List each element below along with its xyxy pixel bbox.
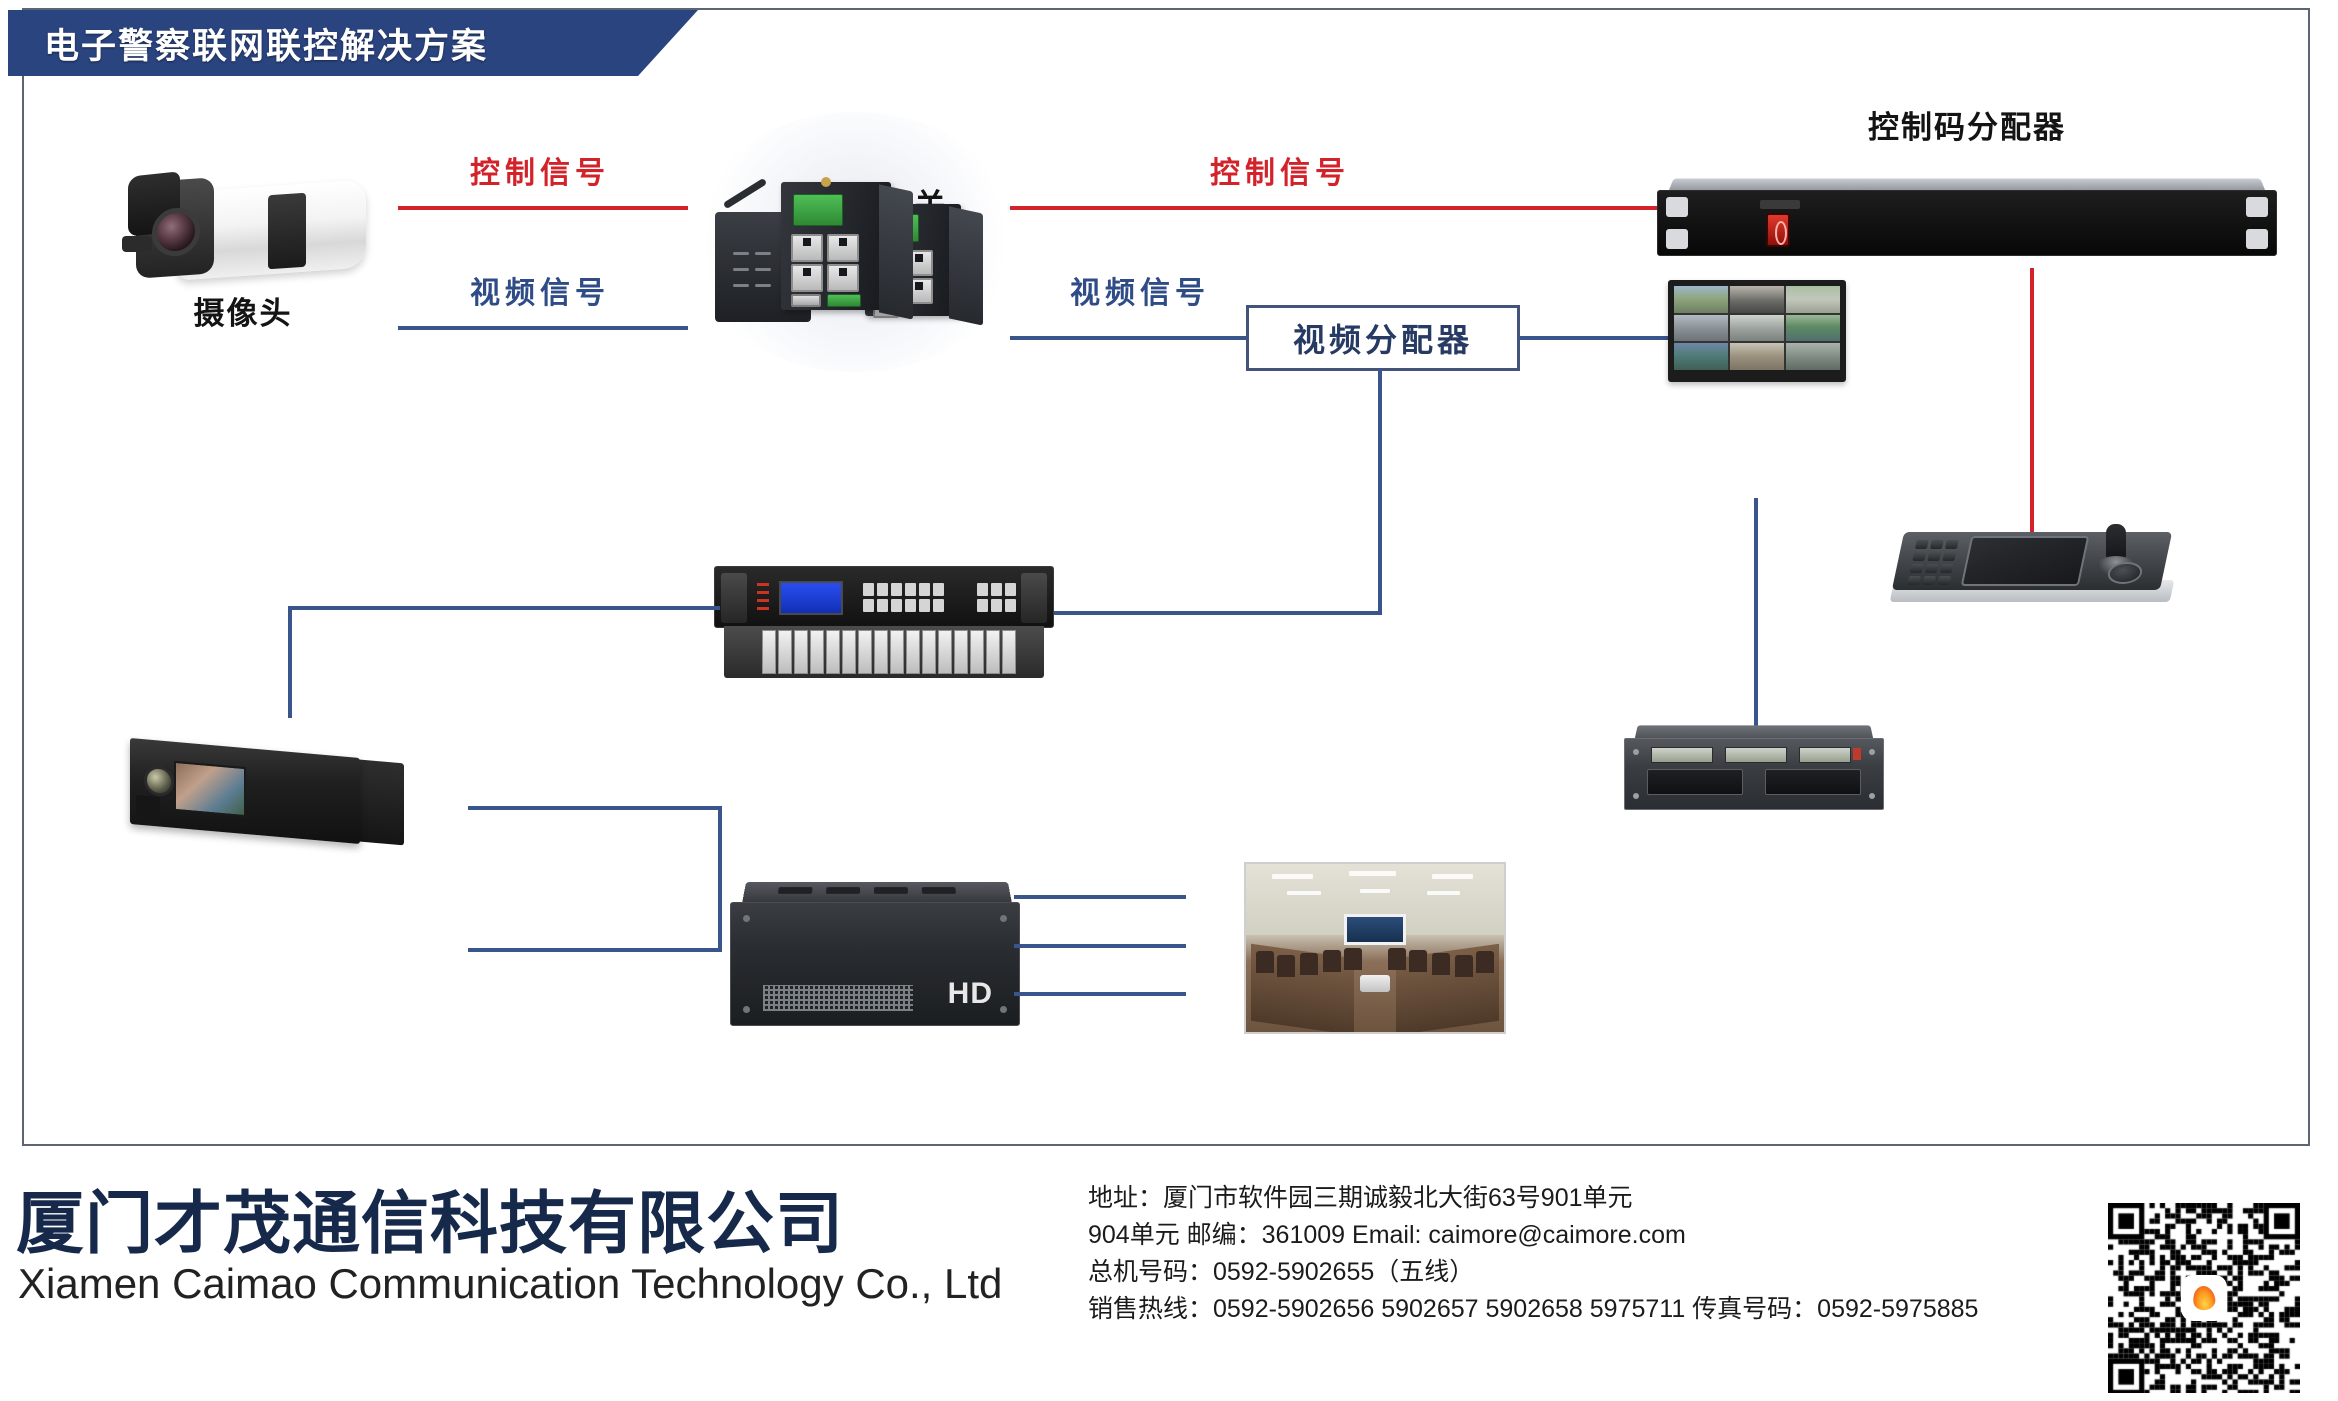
signal-video-left: 视频信号 [400,268,680,312]
projection-controller-hd-badge: HD [948,977,993,1011]
line-to-projection-controller [468,948,722,952]
camera-icon [118,170,368,290]
line-proj-out-2 [1014,944,1186,948]
node-camera: 摄像头 [118,170,368,333]
line-left-down-to-splitter [288,606,292,718]
line-control-left [398,206,688,210]
line-distributor-down [1378,369,1382,613]
line-splitter-right [468,806,720,810]
contact-block: 地址：厦门市软件园三期诚毅北大街63号901单元 904单元 邮编：361009… [1088,1180,1978,1328]
signal-control-right: 控制信号 [1140,148,1420,192]
line-control-to-keyboard [2030,268,2034,558]
line-video-left [398,326,688,330]
node-video-matrix: 视频矩阵 [714,566,1054,641]
monitor-icon [1668,280,1846,382]
camera-label: 摄像头 [118,288,368,333]
node-keyboard-right: 主控键盘 [1892,518,2172,581]
video-distributor-label: 视频分配器 [1293,315,1473,361]
company-name-en: Xiamen Caimao Communication Technology C… [18,1260,1002,1308]
banner-title: 电子警察联网联控解决方案 [44,18,488,69]
line-matrix-to-left [288,606,720,610]
line-splitter-down [718,806,722,952]
node-screen-splitter: 画面分割器 [130,740,410,815]
industrial-gateway-icon [715,168,1015,338]
line-proj-out-1 [1014,895,1186,899]
contact-line-switchboard: 总机号码：0592-5902655（五线） [1088,1254,1978,1291]
node-monitor: 监视器 [1668,280,1846,347]
screen-splitter-icon [130,740,410,850]
contact-line-address: 地址：厦门市软件园三期诚毅北大街63号901单元 [1088,1180,1978,1217]
conference-room-image [1244,862,1506,1034]
node-gateway: 工业级网关 CM520 (无线) [715,168,1015,252]
master-keyboard-icon [1892,518,2172,628]
line-monitor-to-dvr [1754,498,1758,730]
line-control-right [1010,206,1660,210]
video-matrix-icon [714,566,1054,686]
line-proj-out-3 [1014,992,1186,996]
dvr-icon [1624,724,1884,816]
code-distributor-label: 控制码分配器 [1657,102,2277,147]
title-banner: 电子警察联网联控解决方案 [8,10,698,76]
poster-page: 电子警察联网联控解决方案 摄像头 [0,0,2338,1401]
qr-code[interactable] [2108,1203,2300,1393]
node-video-distributor: 视频分配器 [1246,305,1520,371]
line-distributor-to-monitor [1518,336,1670,340]
contact-line-unit-email: 904单元 邮编：361009 Email: caimore@caimore.c… [1088,1217,1978,1254]
signal-control-left: 控制信号 [400,148,680,192]
company-name-cn: 厦门才茂通信科技有限公司 [16,1168,844,1267]
node-dvr: 硬盘录像机 [1624,724,1884,783]
node-projection-controller: HD 投影控制器 [730,880,1020,959]
signal-video-right: 视频信号 [1000,268,1280,312]
line-video-right [1010,336,1250,340]
caimore-flame-logo [2184,1278,2224,1318]
footer: 厦门才茂通信科技有限公司 Xiamen Caimao Communication… [0,1150,2338,1401]
projection-controller-icon: HD [730,880,1020,1030]
code-distributor-icon [1657,178,2277,262]
node-keyboard-bottom: 主控键盘 [1244,862,1506,929]
contact-line-sales-fax: 销售热线：0592-5902656 5902657 5902658 597571… [1088,1291,1978,1328]
